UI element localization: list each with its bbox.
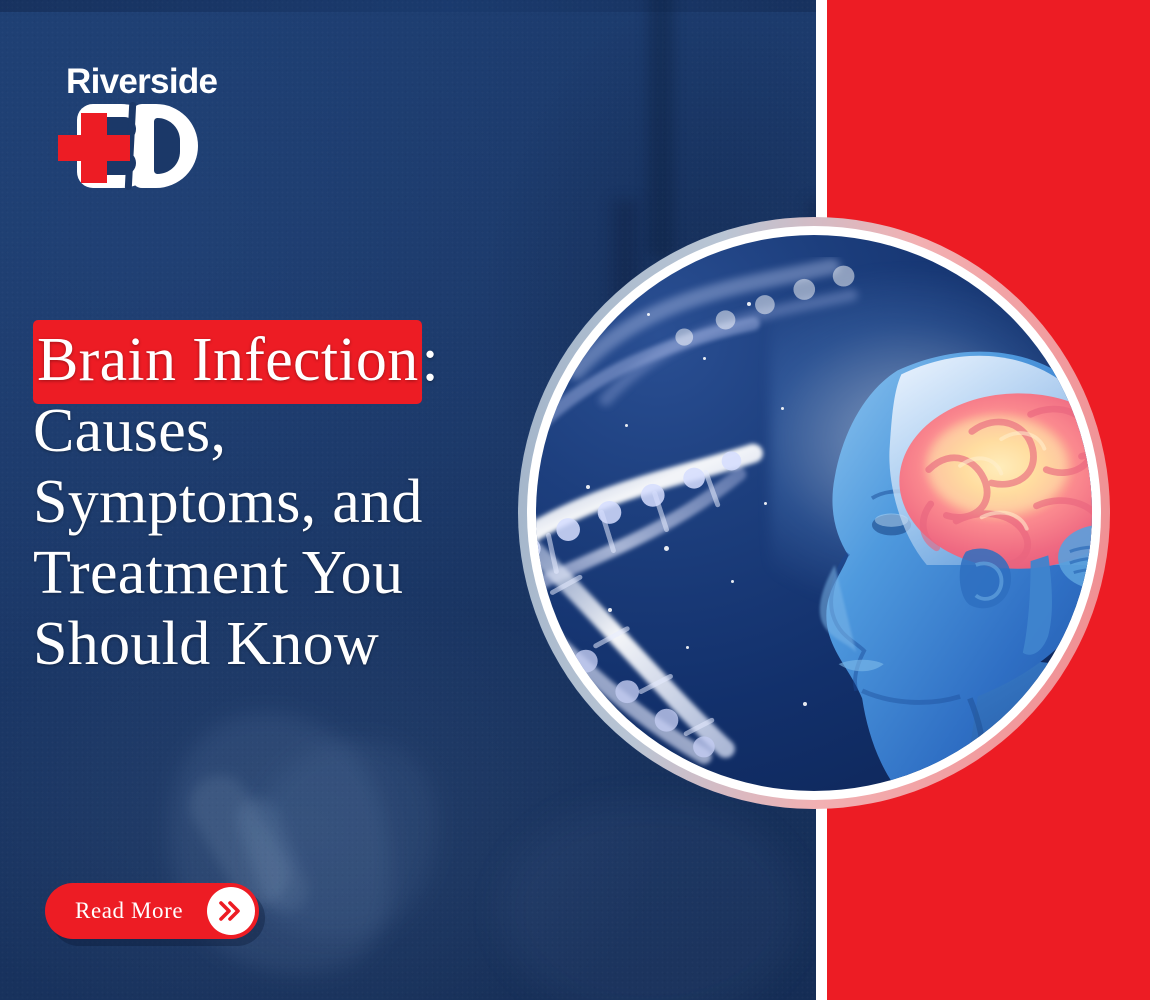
brand-name: Riverside <box>66 62 217 102</box>
medical-cross-icon-vertical <box>81 113 107 183</box>
brand-monogram-icon <box>58 104 198 188</box>
headline-line-2: Causes, <box>33 396 533 467</box>
head-profile-graphic <box>725 279 1092 791</box>
promo-banner: Riverside Brain Infection: Causes, Sympt… <box>0 0 1150 1000</box>
page-title: Brain Infection: Causes, Symptoms, and T… <box>33 325 533 680</box>
background-blob-e <box>500 800 800 1000</box>
brand-logo[interactable]: Riverside <box>58 62 268 202</box>
headline-line-4: Treatment You <box>33 538 533 609</box>
read-more-button[interactable]: Read More <box>45 883 259 939</box>
headline-line-1: Brain Infection: <box>33 325 533 396</box>
headline-line-3: Symptoms, and <box>33 467 533 538</box>
headline-line-1-tail: : <box>422 326 440 394</box>
read-more-label: Read More <box>75 898 207 924</box>
headline-line-5: Should Know <box>33 609 533 680</box>
hero-image-circle <box>527 226 1101 800</box>
headline-highlight: Brain Infection <box>33 320 422 404</box>
double-chevron-right-icon[interactable] <box>207 887 255 935</box>
sparkle <box>625 424 628 427</box>
brain-infection-illustration <box>536 235 1092 791</box>
sparkle <box>608 608 612 612</box>
top-strip <box>0 0 816 12</box>
